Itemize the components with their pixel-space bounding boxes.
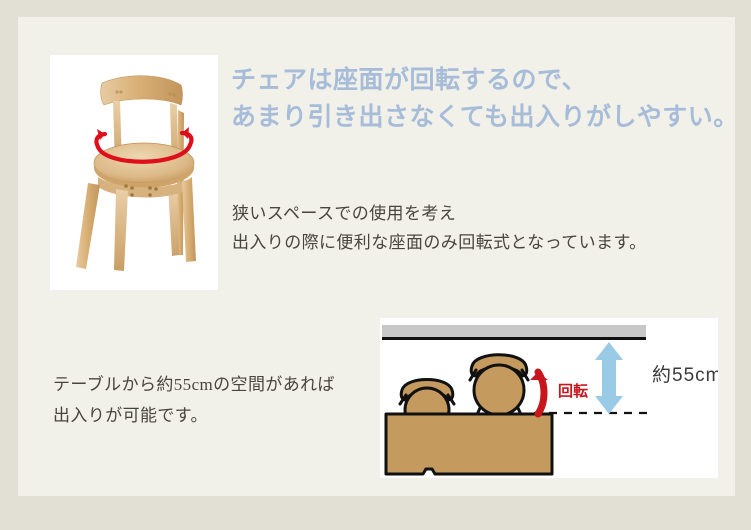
- clearance-line-2: 出入りが可能です。: [53, 406, 208, 425]
- clearance-diagram: 回転 約55cm: [380, 318, 718, 478]
- chair-photo: [50, 55, 218, 290]
- feature-description: 狭いスペースでの使用を考え 出入りの際に便利な座面のみ回転式となっています。: [232, 199, 702, 257]
- description-line-2: 出入りの際に便利な座面のみ回転式となっています。: [232, 233, 647, 252]
- table-top-view: [386, 414, 552, 474]
- headline-line-1: チェアは座面が回転するので、: [231, 67, 587, 94]
- chair-pulled-out: [470, 355, 528, 417]
- wall-bar: [382, 325, 646, 337]
- wall-line: [382, 337, 646, 340]
- clearance-diagram-svg: 回転 約55cm: [380, 318, 718, 478]
- rotation-label: 回転: [558, 383, 588, 400]
- feature-headline: チェアは座面が回転するので、 あまり引き出さなくても出入りがしやすい。: [231, 62, 731, 136]
- clearance-line-1: テーブルから約55cmの空間があれば: [53, 375, 335, 394]
- headline-line-2: あまり引き出さなくても出入りがしやすい。: [231, 99, 731, 136]
- description-line-1: 狭いスペースでの使用を考え: [232, 204, 456, 223]
- clearance-description: テーブルから約55cmの空間があれば 出入りが可能です。: [53, 369, 383, 431]
- product-feature-panel: チェアは座面が回転するので、 あまり引き出さなくても出入りがしやすい。 狭いスペ…: [0, 0, 751, 530]
- chair-photo-card: [50, 55, 218, 290]
- dimension-label: 約55cm: [652, 364, 718, 386]
